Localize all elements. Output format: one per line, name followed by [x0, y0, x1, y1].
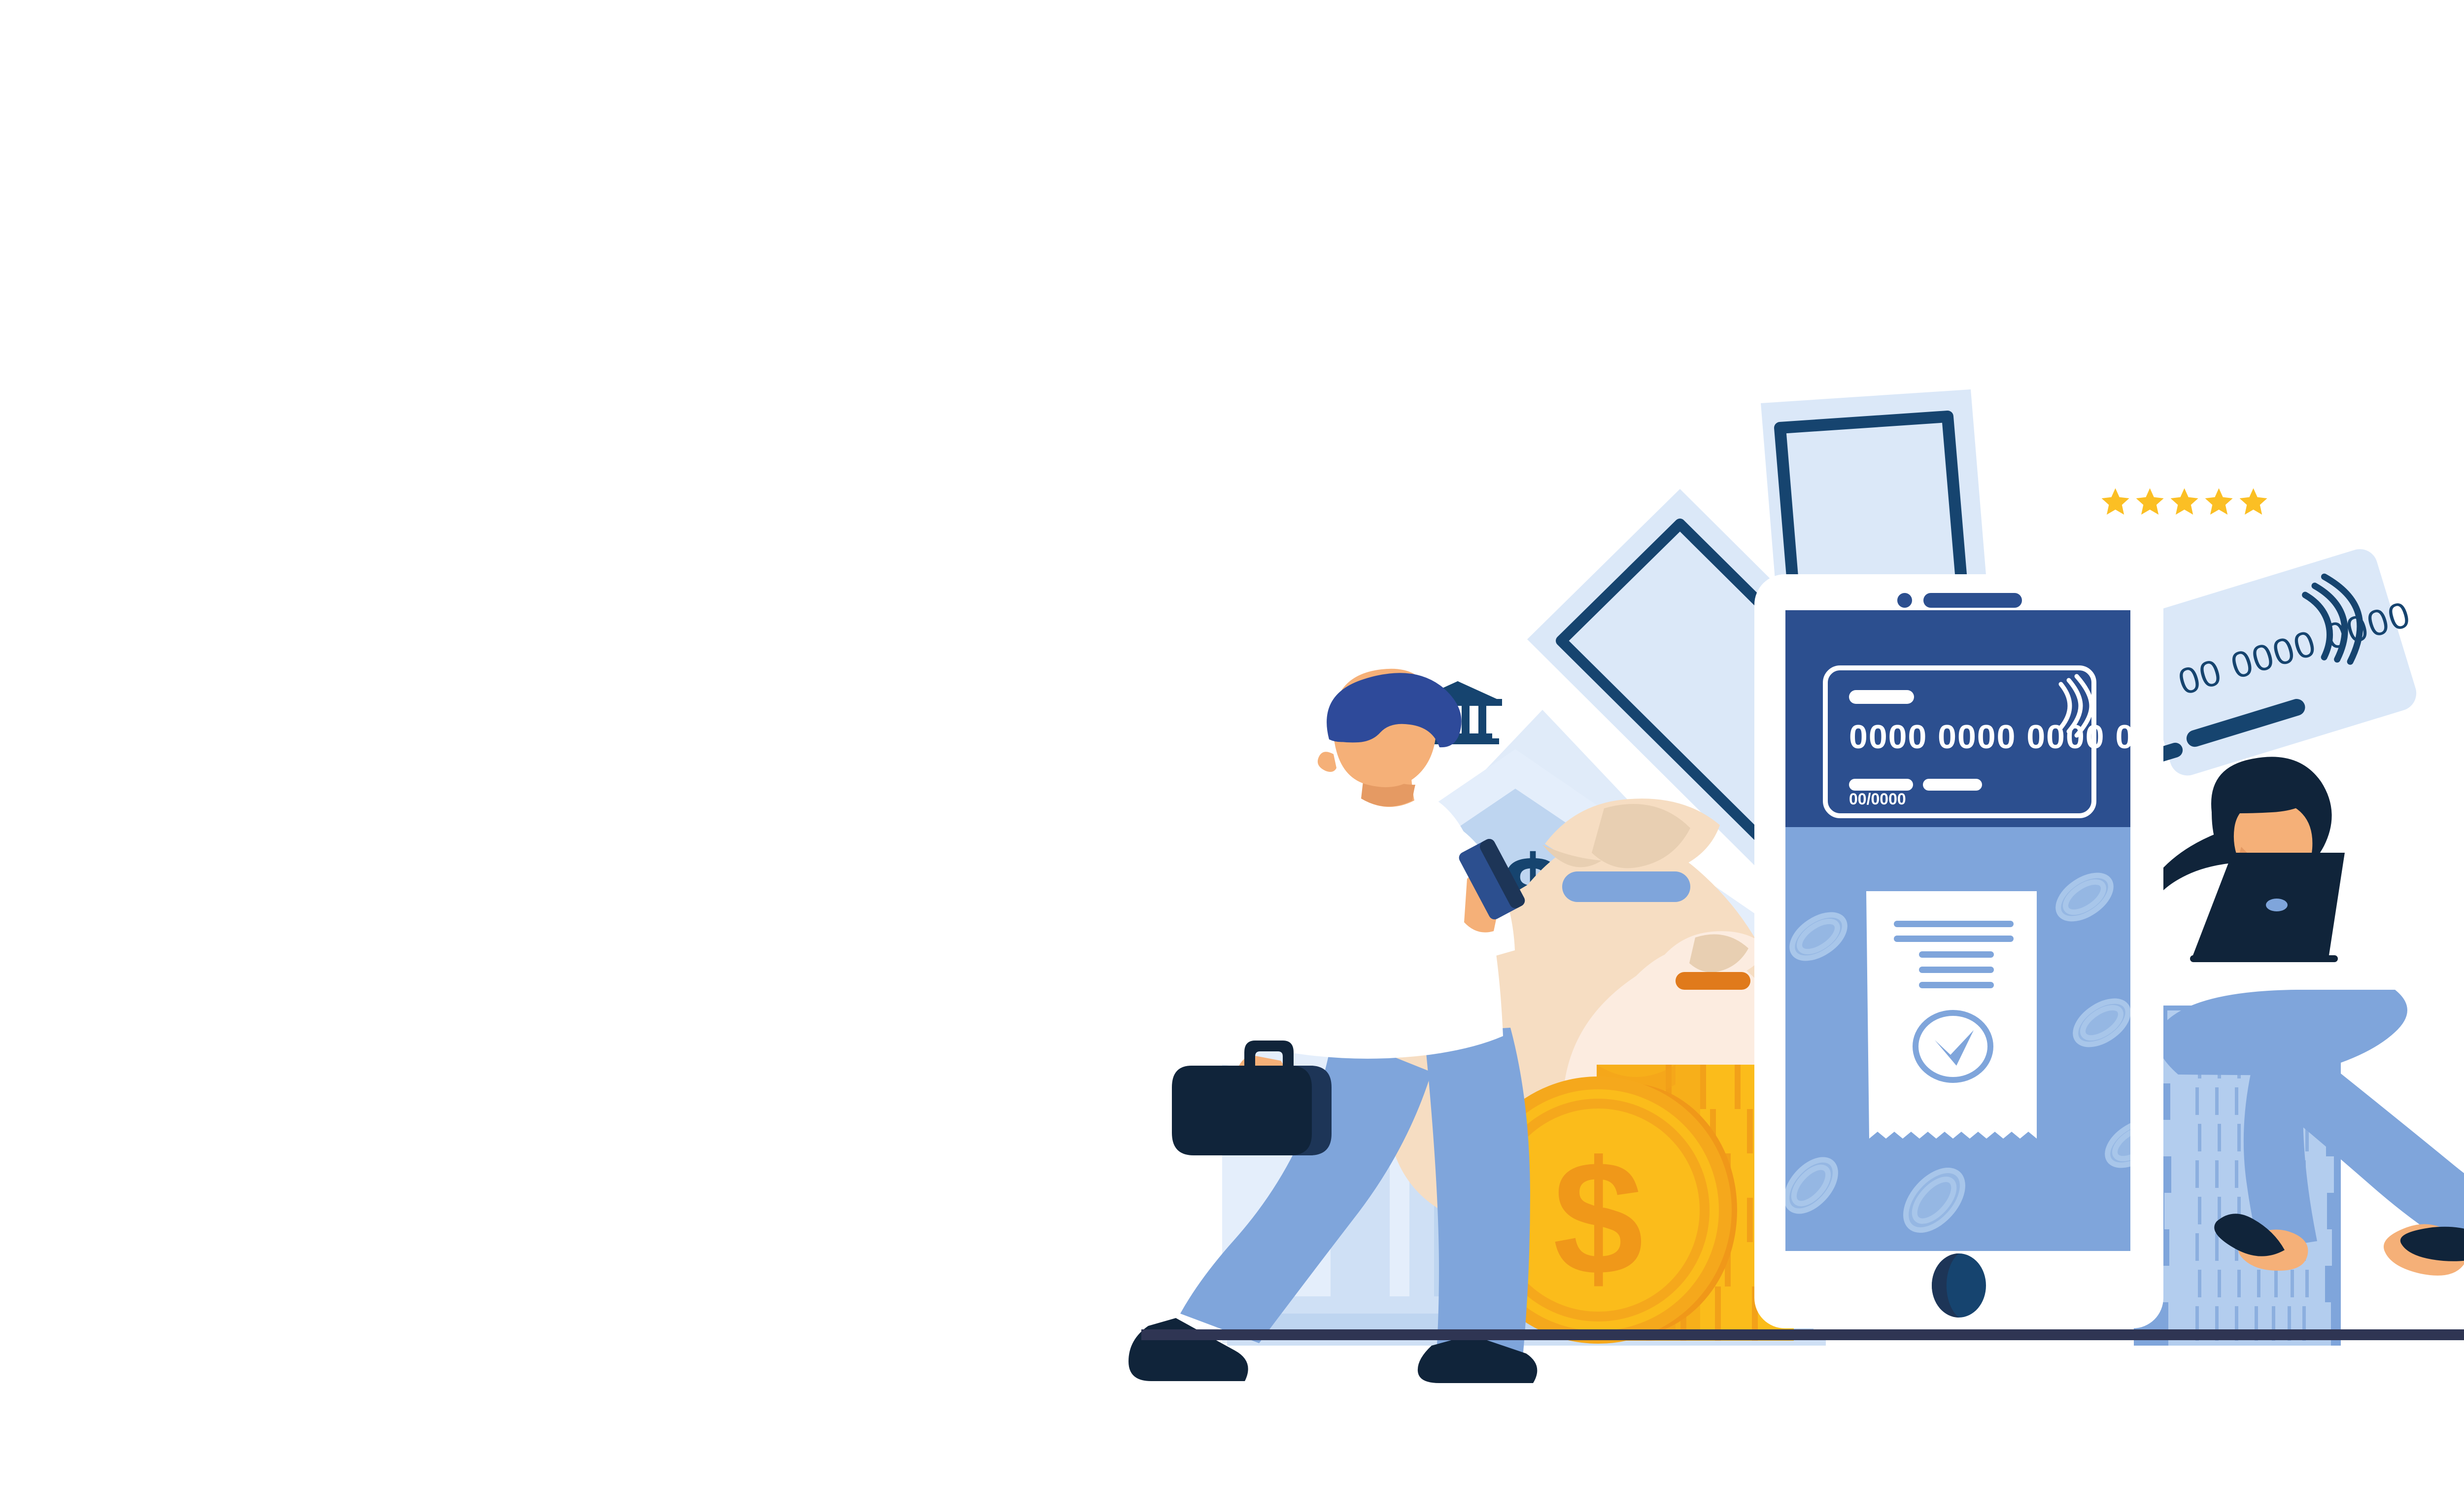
coin-dollar-symbol: $: [1553, 1127, 1643, 1309]
illustration-canvas: Online banking and mobile payment flat i…: [0, 0, 2464, 1493]
phone-card-bank-bar: [1923, 779, 1982, 791]
star-icon: [2102, 488, 2129, 515]
phone-card-chip-bar: [1849, 690, 1914, 704]
banking-illustration: $ $: [0, 0, 2464, 1493]
star-icon: [2171, 488, 2198, 515]
phone-camera-icon: [1897, 593, 1912, 608]
laptop-base: [2190, 955, 2338, 962]
man-ear: [1318, 752, 1336, 772]
phone-card-expiry: 00/0000: [1849, 790, 1906, 808]
five-star-rating[interactable]: [2102, 488, 2267, 515]
money-bag-tie-small: [1676, 972, 1750, 990]
laptop-logo-icon: [2266, 899, 2288, 911]
bank-icon-dollar: $: [1454, 685, 1462, 700]
laptop[interactable]: [2190, 853, 2345, 962]
phone-card-name-bar: [1849, 779, 1913, 791]
phone-speaker: [1923, 593, 2022, 608]
briefcase-body: [1172, 1066, 1331, 1155]
star-icon: [2240, 488, 2267, 515]
phone-receipt: [1866, 891, 2037, 1139]
money-bag-tie: [1562, 871, 1690, 902]
star-icon: [2205, 488, 2233, 515]
smartphone-mockup[interactable]: 0000 0000 0000 0000 00/0000: [1754, 574, 2194, 1328]
star-icon: [2136, 488, 2164, 515]
